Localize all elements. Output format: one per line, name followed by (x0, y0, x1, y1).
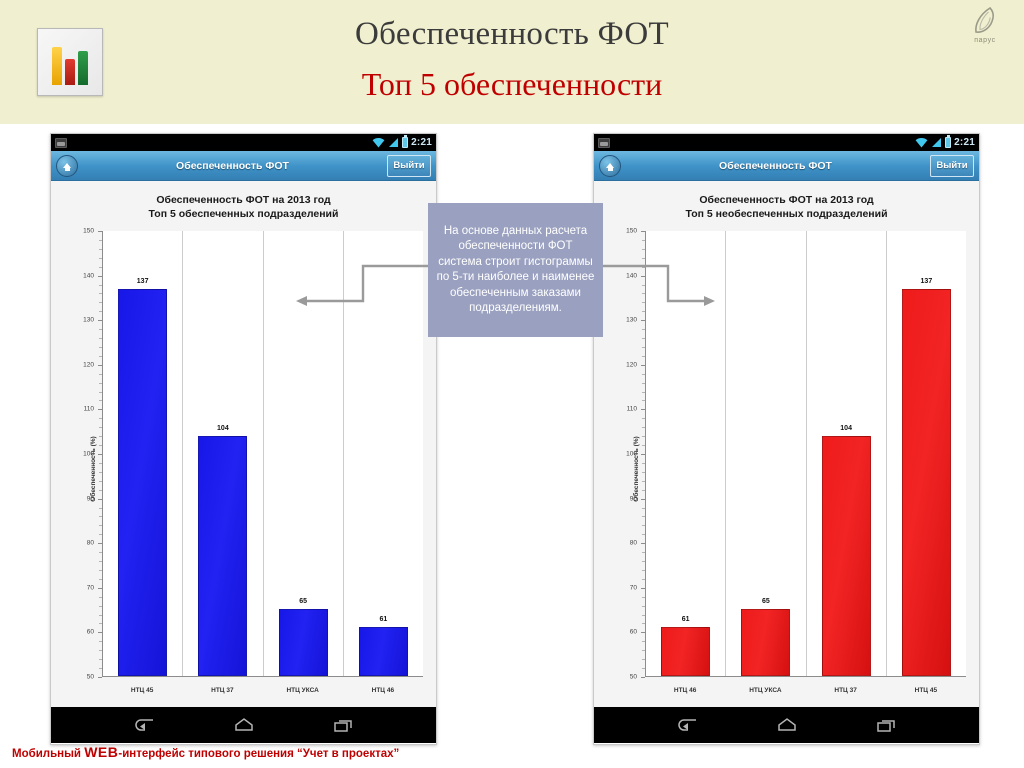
bar-cell: 104 (183, 231, 263, 676)
x-axis-label: НТЦ 45 (886, 679, 966, 703)
y-axis-ticks-left: 5060708090100110120130140150 (76, 231, 98, 677)
callout-note: На основе данных расчета обеспеченности … (428, 203, 603, 337)
bar-value-label: 137 (921, 278, 933, 285)
bar[interactable]: 137 (902, 289, 951, 676)
tablet-right: 2:21 Обеспеченность ФОТ Выйти Обеспеченн… (593, 133, 980, 745)
android-nav-bar-left (51, 707, 436, 743)
page-title: Обеспеченность ФОТ (0, 16, 1024, 53)
app-bar-title: Обеспеченность ФОТ (621, 160, 930, 172)
bars-container-left: 1371046561 (102, 231, 423, 677)
parus-logo: парус (962, 6, 1008, 50)
y-tick-label: 130 (626, 317, 637, 324)
y-tick-label: 100 (626, 451, 637, 458)
y-tick-label: 110 (627, 406, 637, 413)
home-icon (63, 163, 71, 168)
x-axis-label: НТЦ УКСА (263, 679, 343, 703)
app-bar-left: Обеспеченность ФОТ Выйти (51, 151, 436, 181)
home-icon[interactable] (233, 717, 255, 733)
y-tick-label: 50 (630, 674, 637, 681)
wifi-icon (915, 137, 928, 148)
y-tick-label: 150 (626, 228, 637, 235)
app-bar-title: Обеспеченность ФОТ (78, 160, 387, 172)
y-tick-label: 90 (87, 495, 94, 502)
tablet-left: 2:21 Обеспеченность ФОТ Выйти Обеспеченн… (50, 133, 437, 745)
y-tick-label: 60 (630, 629, 637, 636)
y-tick-label: 70 (630, 584, 637, 591)
footer-web: WEB (84, 744, 118, 760)
bar[interactable]: 65 (279, 609, 328, 676)
y-axis-ticks-right: 5060708090100110120130140150 (619, 231, 641, 677)
chart-title-line2: Топ 5 обеспеченных подразделений (58, 207, 429, 221)
chart-title-right: Обеспеченность ФОТ на 2013 год Топ 5 нео… (601, 189, 972, 227)
chart-screen-left: Обеспеченность ФОТ на 2013 год Топ 5 обе… (51, 181, 436, 707)
chart-title-line2: Топ 5 необеспеченных подразделений (601, 207, 972, 221)
y-tick-label: 80 (87, 540, 94, 547)
bar-value-label: 137 (137, 278, 149, 285)
status-clock: 2:21 (954, 137, 975, 148)
status-bar-right: 2:21 (594, 134, 979, 151)
bar-value-label: 61 (379, 616, 387, 623)
bar-value-label: 65 (762, 598, 770, 605)
exit-button[interactable]: Выйти (930, 155, 974, 177)
bar[interactable]: 61 (661, 627, 710, 676)
chart-title-line1: Обеспеченность ФОТ на 2013 год (58, 193, 429, 207)
app-bar-right: Обеспеченность ФОТ Выйти (594, 151, 979, 181)
x-axis-label: НТЦ УКСА (725, 679, 805, 703)
y-tick-label: 110 (84, 406, 94, 413)
chart-title-left: Обеспеченность ФОТ на 2013 год Топ 5 обе… (58, 189, 429, 227)
parus-wordmark: парус (962, 37, 1008, 44)
battery-icon (402, 137, 408, 148)
plot-area-left: Обеспеченность (%) 506070809010011012013… (58, 227, 429, 711)
y-tick-mark (98, 677, 102, 678)
wifi-icon (372, 137, 385, 148)
bar[interactable]: 61 (359, 627, 408, 676)
header-banner: Обеспеченность ФОТ Топ 5 обеспеченности … (0, 0, 1024, 124)
x-axis-labels-right: НТЦ 46НТЦ УКСАНТЦ 37НТЦ 45 (645, 679, 966, 703)
y-tick-label: 120 (626, 361, 637, 368)
y-tick-label: 70 (87, 584, 94, 591)
page-subtitle: Топ 5 обеспеченности (0, 66, 1024, 103)
bar-cell: 65 (726, 231, 806, 676)
slide-root: Обеспеченность ФОТ Топ 5 обеспеченности … (0, 0, 1024, 768)
x-axis-label: НТЦ 37 (182, 679, 262, 703)
status-bar-left: 2:21 (51, 134, 436, 151)
bar-value-label: 104 (217, 425, 229, 432)
home-button[interactable] (56, 155, 78, 177)
footer-prefix: Мобильный (12, 748, 84, 760)
bar-value-label: 61 (682, 616, 690, 623)
bar-cell: 137 (887, 231, 966, 676)
sail-icon (972, 6, 998, 36)
bar[interactable]: 65 (741, 609, 790, 676)
chart-screen-right: Обеспеченность ФОТ на 2013 год Топ 5 нео… (594, 181, 979, 707)
back-icon[interactable] (133, 717, 155, 733)
back-icon[interactable] (676, 717, 698, 733)
home-icon (606, 163, 614, 168)
android-nav-bar-right (594, 707, 979, 743)
bar-value-label: 104 (840, 425, 852, 432)
bar-cell: 65 (264, 231, 344, 676)
bar[interactable]: 137 (118, 289, 167, 676)
y-tick-label: 100 (83, 451, 94, 458)
home-icon[interactable] (776, 717, 798, 733)
x-axis-label: НТЦ 46 (645, 679, 725, 703)
plot-area-right: Обеспеченность (%) 506070809010011012013… (601, 227, 972, 711)
status-clock: 2:21 (411, 137, 432, 148)
y-tick-label: 50 (87, 674, 94, 681)
home-button[interactable] (599, 155, 621, 177)
bar-cell: 137 (103, 231, 183, 676)
x-axis-label: НТЦ 37 (806, 679, 886, 703)
bar[interactable]: 104 (198, 436, 247, 676)
chart-title-line1: Обеспеченность ФОТ на 2013 год (601, 193, 972, 207)
app-notification-icon (598, 138, 610, 148)
y-tick-label: 90 (630, 495, 637, 502)
bar[interactable]: 104 (822, 436, 871, 676)
footer-caption: Мобильный WEB-интерфейс типового решения… (12, 744, 399, 760)
y-tick-label: 60 (87, 629, 94, 636)
bars-container-right: 6165104137 (645, 231, 966, 677)
y-tick-label: 130 (83, 317, 94, 324)
y-tick-label: 80 (630, 540, 637, 547)
app-notification-icon (55, 138, 67, 148)
y-tick-label: 150 (83, 228, 94, 235)
y-tick-label: 140 (626, 272, 637, 279)
bar-cell: 61 (646, 231, 726, 676)
recents-icon[interactable] (876, 717, 898, 733)
y-tick-label: 120 (83, 361, 94, 368)
recents-icon[interactable] (333, 717, 355, 733)
battery-icon (945, 137, 951, 148)
x-axis-label: НТЦ 45 (102, 679, 182, 703)
y-tick-label: 140 (83, 272, 94, 279)
signal-icon (388, 137, 399, 148)
footer-suffix: -интерфейс типового решения “Учет в прое… (118, 748, 399, 760)
bar-value-label: 65 (299, 598, 307, 605)
x-axis-labels-left: НТЦ 45НТЦ 37НТЦ УКСАНТЦ 46 (102, 679, 423, 703)
y-tick-mark (641, 677, 645, 678)
exit-button[interactable]: Выйти (387, 155, 431, 177)
bar-cell: 61 (344, 231, 423, 676)
signal-icon (931, 137, 942, 148)
x-axis-label: НТЦ 46 (343, 679, 423, 703)
bar-cell: 104 (807, 231, 887, 676)
